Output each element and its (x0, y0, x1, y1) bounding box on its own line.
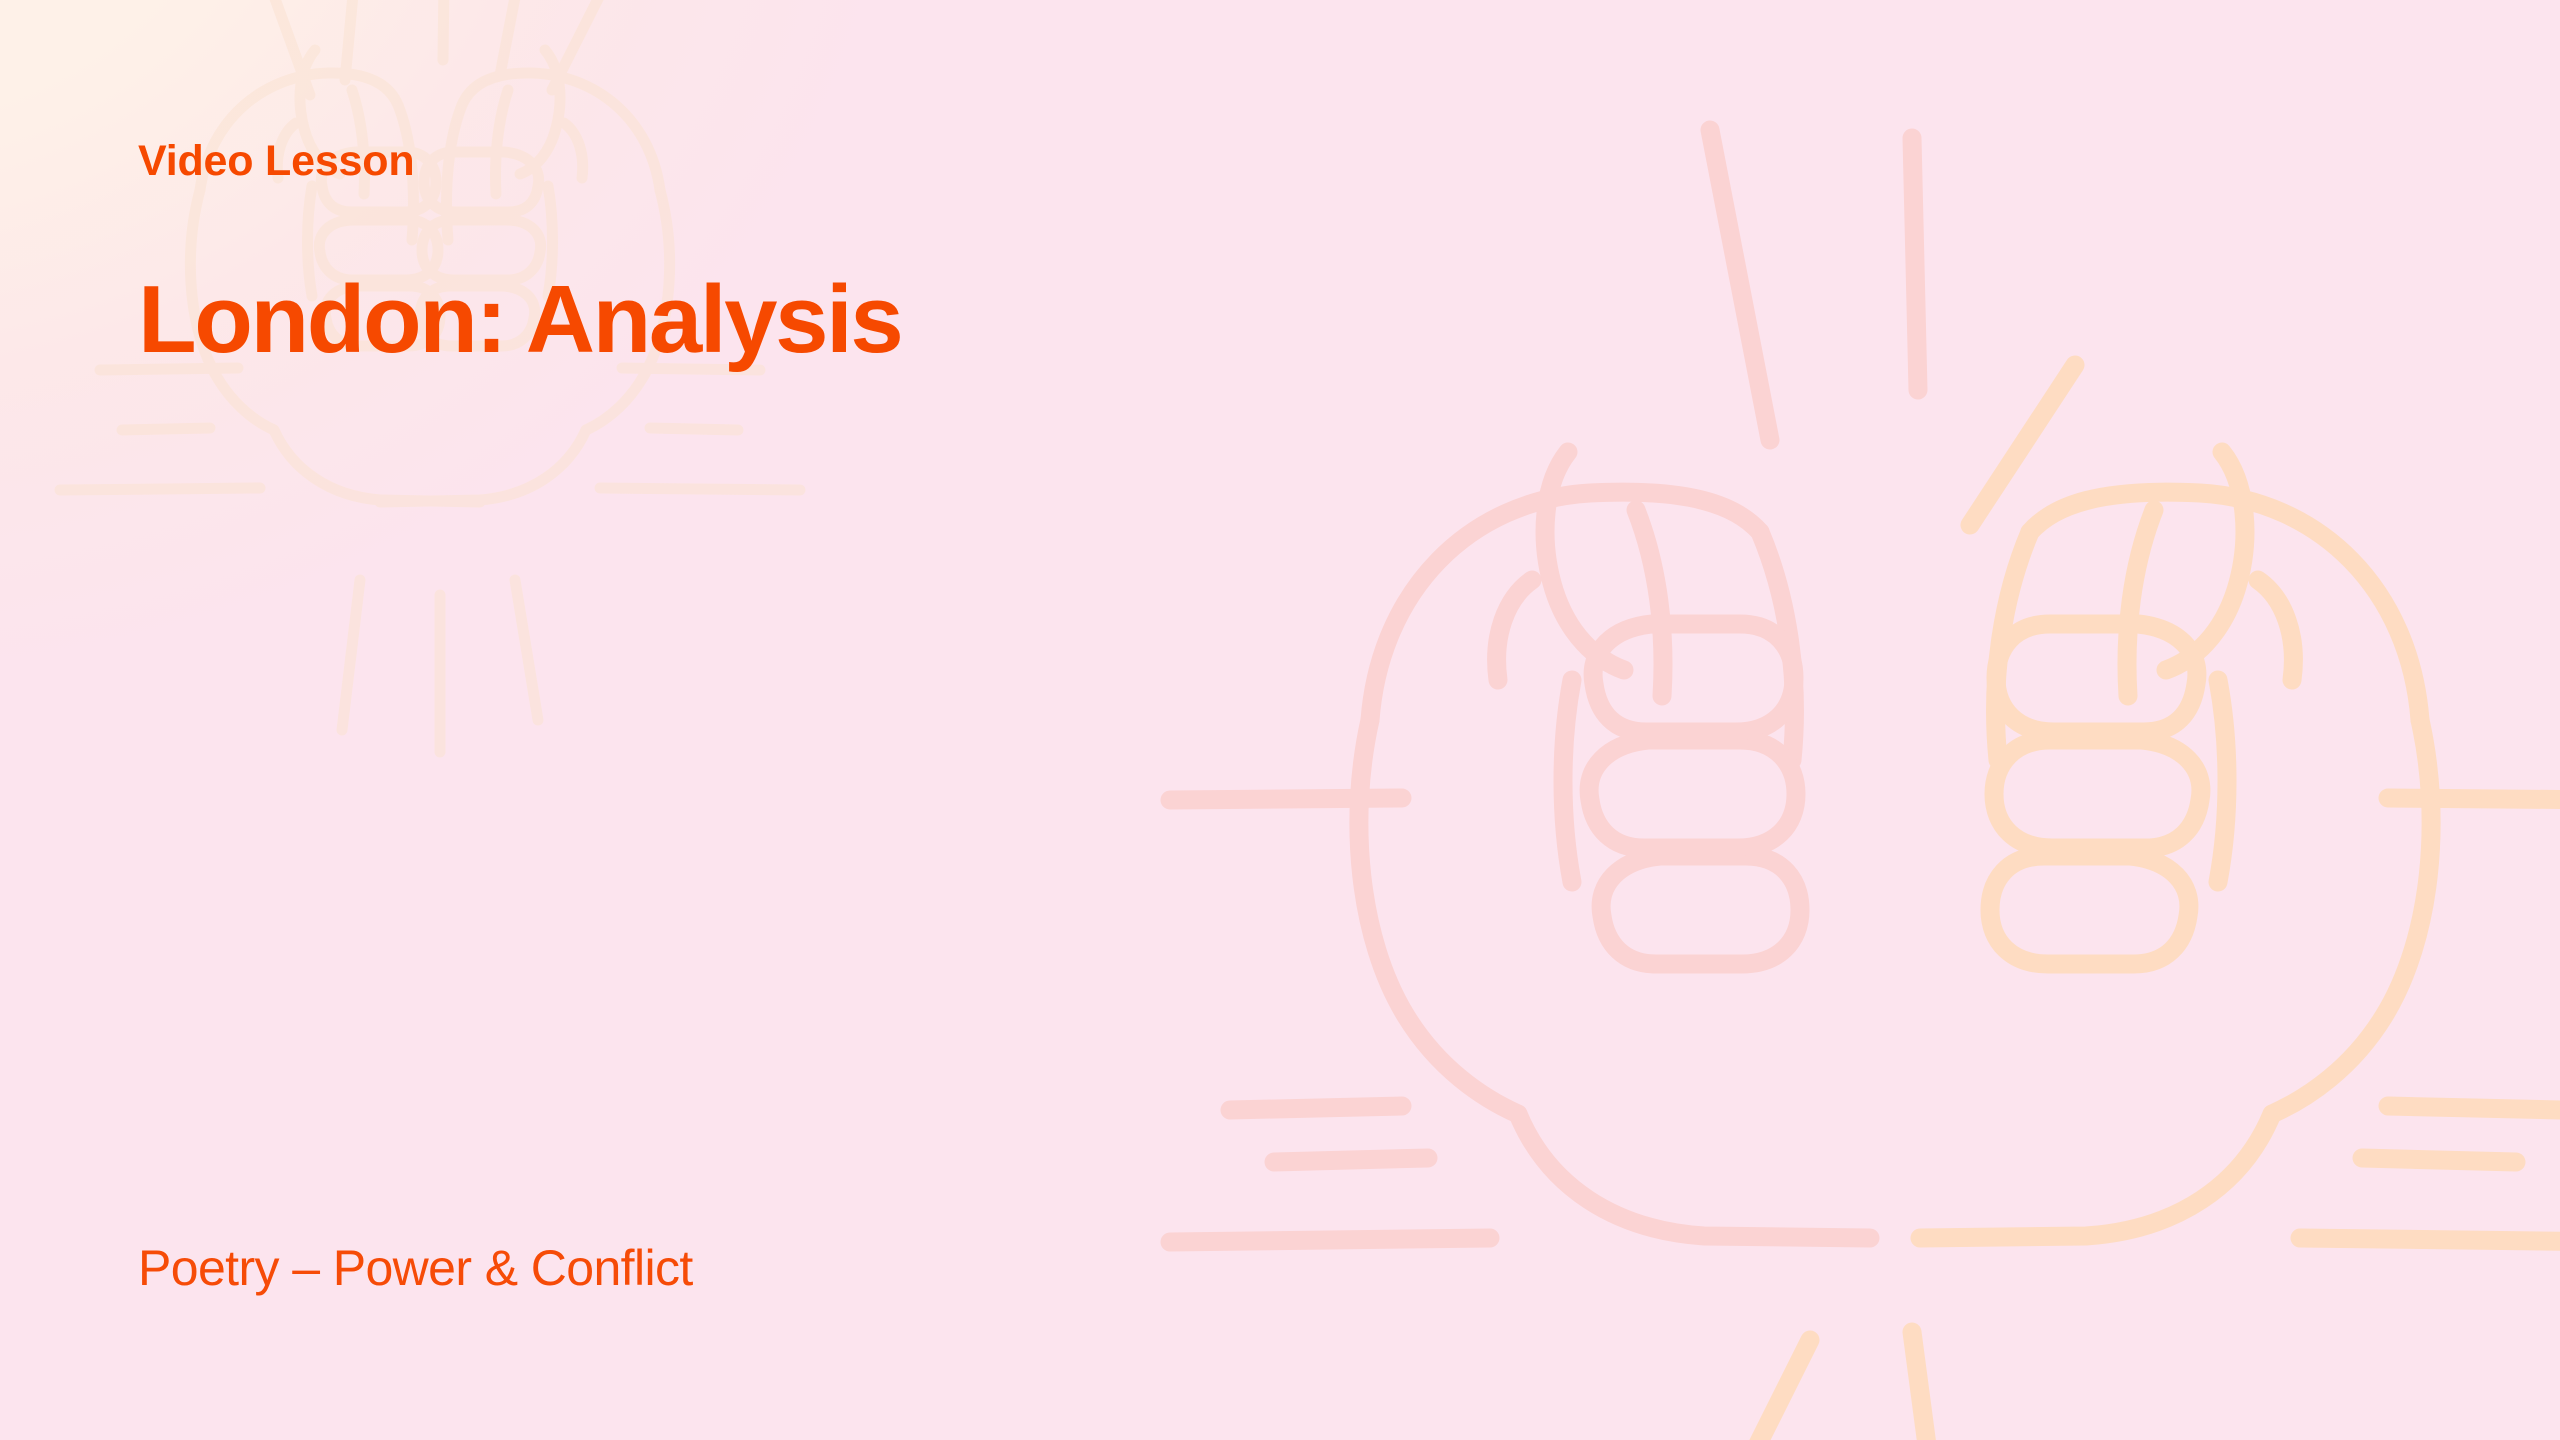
impact-lines-bottom (1730, 1332, 1930, 1440)
impact-lines-top (1710, 130, 1918, 440)
subject-label: Poetry – Power & Conflict (138, 1243, 693, 1293)
lesson-type-label: Video Lesson (138, 140, 414, 183)
page-title: London: Analysis (138, 268, 901, 372)
fist-bump-illustration-hero (1170, 100, 2560, 1440)
impact-lines-top-right (1970, 365, 2075, 525)
slide-content: Video Lesson London: Analysis Poetry – P… (138, 0, 1338, 1440)
slide-canvas: Video Lesson London: Analysis Poetry – P… (0, 0, 2560, 1440)
right-fist (1920, 452, 2560, 1242)
